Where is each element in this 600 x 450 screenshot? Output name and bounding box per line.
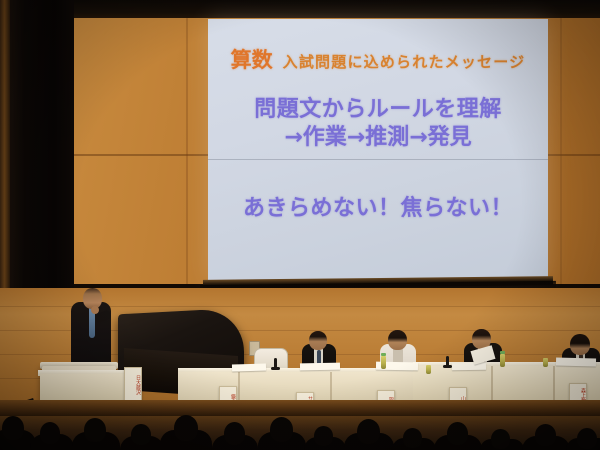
slide-body-line-1: 問題文からルールを理解: [220, 96, 536, 124]
audience-head: [403, 428, 422, 448]
stage-curtain-edge: [0, 0, 10, 300]
document-sheet: [556, 357, 596, 366]
panelist-3-head: [388, 330, 407, 350]
document-sheet: [300, 363, 340, 371]
slide-closing-line: あきらめない！焦らない！: [220, 190, 536, 222]
tea-bottle-cap: [381, 353, 386, 356]
tea-bottle: [381, 356, 386, 369]
stage-curtain-left: [8, 0, 74, 300]
audience-head: [270, 417, 293, 442]
audience-head: [357, 419, 380, 444]
auditorium-screenshot: 算数 入試問題に込められたメッセージ 問題文からルールを理解 →作業→推測→発見…: [0, 0, 600, 450]
wall-vertical-seam-right: [560, 16, 562, 284]
moderator-hand-with-mic: [91, 306, 99, 314]
slide-title-keyword: 算数: [231, 44, 273, 74]
audience-head: [447, 422, 468, 445]
slide-body-line-2: →作業→推測→発見: [220, 124, 536, 152]
audience-head: [491, 429, 510, 449]
document-sheet: [452, 363, 486, 371]
slide-title: 算数 入試問題に込められたメッセージ: [220, 44, 536, 74]
audience-head: [174, 415, 198, 441]
audience-head: [40, 422, 60, 444]
desk-microphone-base: [443, 365, 452, 368]
audience-head: [224, 422, 245, 445]
slide-title-rest: 入試問題に込められたメッセージ: [283, 51, 526, 72]
panelist-5-head: [570, 334, 590, 355]
audience-head: [84, 418, 106, 442]
audience-head: [314, 426, 333, 446]
tea-bottle: [500, 354, 505, 367]
audience-head: [535, 424, 556, 446]
projection-screen: 算数 入試問題に込められたメッセージ 問題文からルールを理解 →作業→推測→発見…: [208, 19, 548, 280]
audience-head: [577, 428, 597, 449]
tea-bottle: [543, 358, 548, 367]
audience-head: [131, 424, 151, 445]
desk-microphone-base: [271, 367, 280, 370]
document-sheet: [232, 364, 266, 372]
presentation-slide: 算数 入試問題に込められたメッセージ 問題文からルールを理解 →作業→推測→発見…: [208, 19, 548, 280]
audience-head: [2, 416, 24, 440]
wall-vertical-seam-left: [186, 16, 188, 284]
tea-bottle: [426, 365, 431, 374]
ceiling-shadow-band: [0, 0, 600, 18]
panelist-1-head: [309, 331, 327, 350]
tea-bottle-cap: [500, 351, 505, 354]
slide-body: 問題文からルールを理解 →作業→推測→発見: [220, 96, 536, 152]
placard-podium-school: 日大藤沢: [126, 375, 140, 395]
audience-silhouettes: [0, 408, 600, 450]
placard-podium: 日大藤沢: [124, 367, 142, 403]
